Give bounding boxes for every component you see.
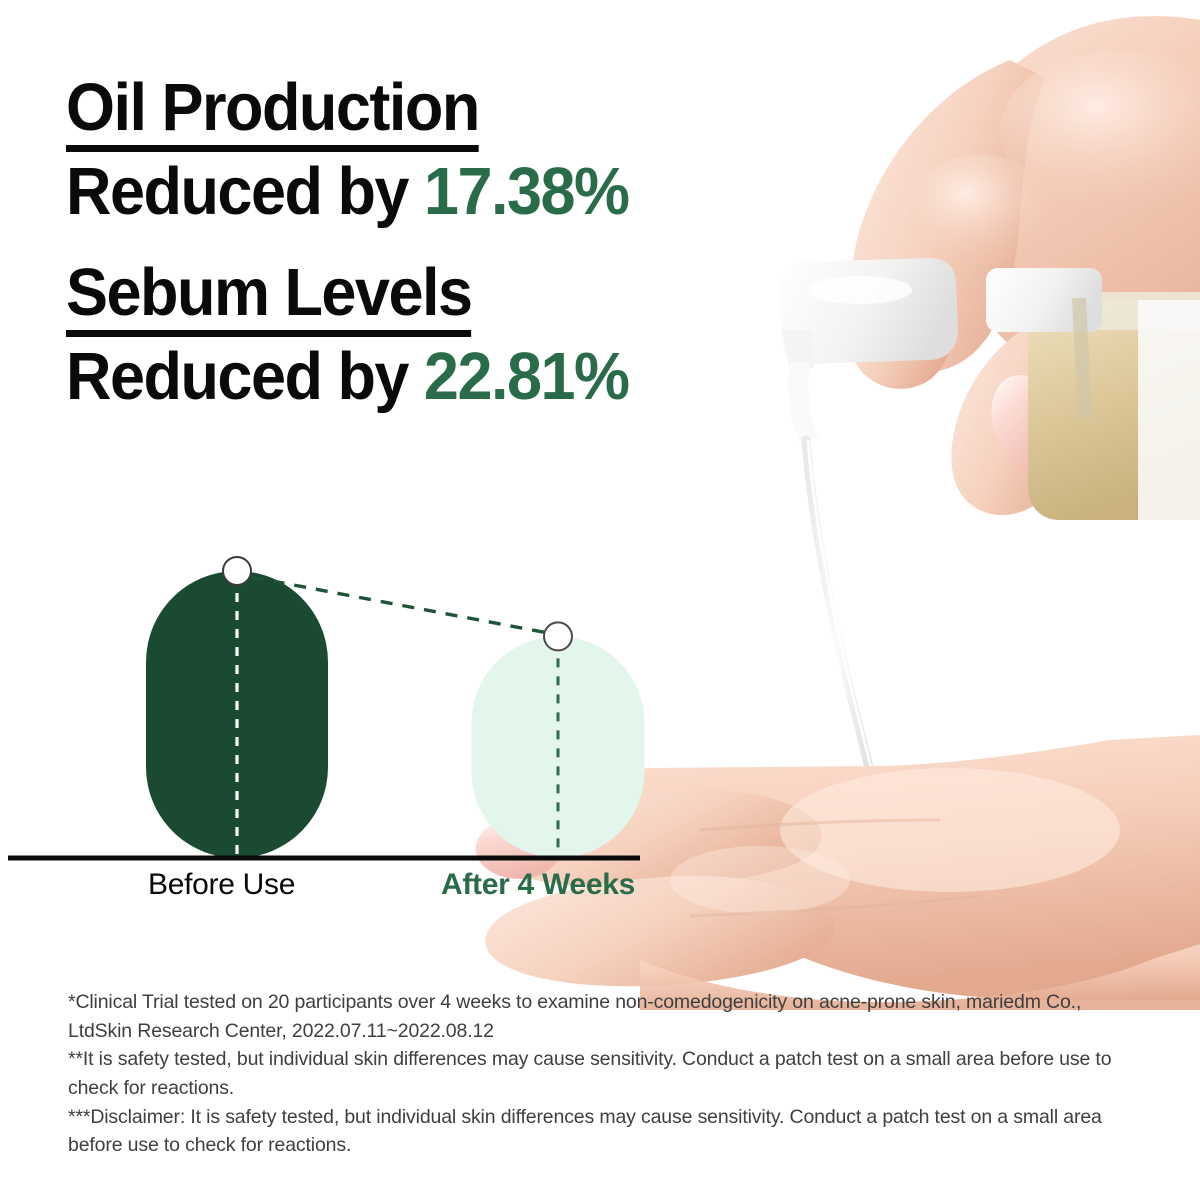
sebum-reduction-bar-chart	[0, 500, 740, 920]
headline-2-title: Sebum Levels	[66, 259, 472, 337]
headline-sebum-levels: Sebum Levels Reduced by 22.81%	[66, 259, 664, 410]
chart-category-label-before: Before Use	[148, 870, 295, 900]
footnote-2: **It is safety tested, but individual sk…	[68, 1045, 1130, 1102]
headline-1-value: 17.38%	[424, 154, 629, 229]
chart-bars	[146, 571, 645, 858]
headline-1-title: Oil Production	[66, 74, 479, 152]
headline-2-subline: Reduced by 22.81%	[66, 343, 629, 410]
chart-marker-before	[223, 557, 251, 585]
headline-1-prefix: Reduced by	[66, 154, 424, 229]
headline-1-subline: Reduced by 17.38%	[66, 158, 629, 225]
infographic-page: Oil Production Reduced by 17.38% Sebum L…	[0, 0, 1200, 1200]
headline-2-value: 22.81%	[424, 339, 629, 414]
serum-stream	[806, 440, 888, 848]
footnote-block: *Clinical Trial tested on 20 participant…	[68, 988, 1130, 1160]
headline-2-prefix: Reduced by	[66, 339, 424, 414]
footnote-1: *Clinical Trial tested on 20 participant…	[68, 988, 1130, 1045]
serum-bottle-group	[780, 258, 1200, 520]
headline-oil-production: Oil Production Reduced by 17.38%	[66, 74, 664, 225]
chart-category-label-after: After 4 Weeks	[441, 870, 635, 900]
chart-marker-after	[544, 622, 572, 650]
upper-hand-group	[848, 16, 1200, 515]
footnote-3: ***Disclaimer: It is safety tested, but …	[68, 1103, 1130, 1160]
